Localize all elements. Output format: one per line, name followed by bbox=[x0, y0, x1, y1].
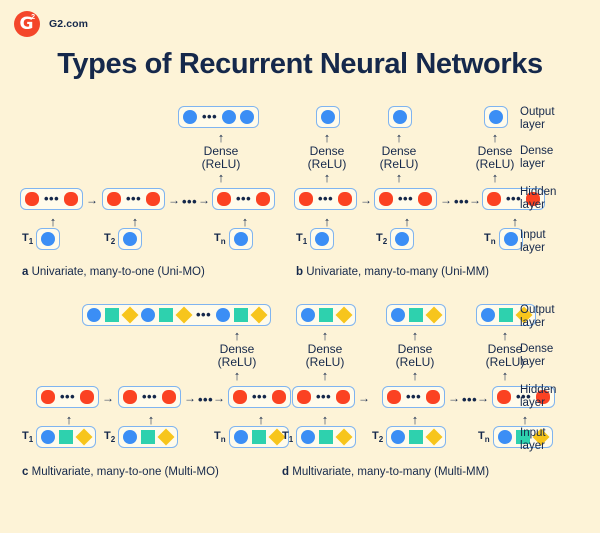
red-circle-node bbox=[387, 390, 401, 404]
ellipsis-dots: ••• bbox=[235, 195, 252, 203]
timestep-label-t2: T2 bbox=[104, 430, 115, 444]
teal-square-node bbox=[409, 308, 423, 322]
red-circle-node bbox=[146, 192, 160, 206]
arrow-right-icon: → bbox=[198, 194, 210, 206]
teal-square-node bbox=[409, 430, 423, 444]
yellow-diamond-node bbox=[336, 307, 353, 324]
arrow-right-icon: → bbox=[448, 392, 460, 404]
arrow-right-icon: → bbox=[86, 194, 98, 206]
dense-line-1: Dense bbox=[308, 342, 343, 356]
blue-circle-node bbox=[141, 308, 155, 322]
row-label-dense-layer: Dense layer bbox=[520, 145, 553, 170]
panel-d-input-t1: T1 bbox=[282, 426, 356, 448]
blue-circle-node bbox=[321, 110, 335, 124]
yellow-diamond-node bbox=[251, 307, 268, 324]
brand-name: G2.com bbox=[49, 18, 88, 30]
row-label-line2: layer bbox=[520, 397, 556, 410]
blue-circle-node bbox=[222, 110, 236, 124]
row-label-line1: Input bbox=[520, 427, 546, 440]
red-circle-node bbox=[41, 390, 55, 404]
timestep-label-t1: T1 bbox=[282, 430, 293, 444]
panel-b-output-box-t2 bbox=[388, 106, 412, 128]
red-circle-node bbox=[336, 390, 350, 404]
arrow-up-icon: ↑ bbox=[62, 414, 76, 425]
row-label-line2: layer bbox=[520, 242, 546, 255]
panel-c-input-box-tn bbox=[229, 426, 289, 448]
dense-line-2: (ReLU) bbox=[218, 355, 257, 369]
arrow-right-icon: → bbox=[477, 392, 489, 404]
arrow-up-icon: ↑ bbox=[144, 414, 158, 425]
panel-b-hidden-box-t1: ••• bbox=[294, 188, 357, 210]
blue-circle-node bbox=[391, 308, 405, 322]
arrow-right-icon: → bbox=[440, 194, 452, 206]
red-circle-node bbox=[64, 192, 78, 206]
panel-c-input-tn: Tn bbox=[214, 426, 289, 448]
yellow-diamond-node bbox=[176, 307, 193, 324]
row-label-line2: layer bbox=[520, 440, 546, 453]
red-circle-node bbox=[107, 192, 121, 206]
row-label-output-layer: Output layer bbox=[520, 106, 555, 131]
arrow-up-icon: ↑ bbox=[518, 414, 532, 425]
yellow-diamond-node bbox=[426, 307, 443, 324]
ellipsis-dots: ••• bbox=[461, 396, 478, 404]
red-circle-node bbox=[418, 192, 432, 206]
timestep-label-tn: Tn bbox=[484, 232, 496, 246]
red-circle-node bbox=[217, 192, 231, 206]
panel-c-input-box-t1 bbox=[36, 426, 96, 448]
brand-logo-group: G 2 G2.com bbox=[14, 11, 88, 37]
panel-d-dense-label-t2: Dense (ReLU) bbox=[385, 343, 445, 369]
arrow-up-icon: ↑ bbox=[214, 172, 228, 183]
ellipsis-dots: ••• bbox=[405, 393, 422, 401]
row-label-line2: layer bbox=[520, 356, 553, 369]
ellipsis-dots: ••• bbox=[125, 195, 142, 203]
panel-a-input-t1: T1 bbox=[22, 228, 60, 250]
arrow-up-icon: ↑ bbox=[392, 132, 406, 143]
yellow-diamond-node bbox=[336, 429, 353, 446]
teal-square-node bbox=[252, 430, 266, 444]
row-label-line2: layer bbox=[520, 158, 553, 171]
panel-c-dense-label: Dense (ReLU) bbox=[207, 343, 267, 369]
dense-line-2: (ReLU) bbox=[306, 355, 345, 369]
panel-b-caption-text: Univariate, many-to-many (Uni-MM) bbox=[306, 266, 489, 278]
row-label-output-layer: Output layer bbox=[520, 304, 555, 329]
arrow-up-icon: ↑ bbox=[408, 330, 422, 341]
panel-a-input-box-t1 bbox=[36, 228, 60, 250]
g2-logo-icon: G 2 bbox=[14, 11, 40, 37]
dense-line-1: Dense bbox=[398, 342, 433, 356]
arrow-up-icon: ↑ bbox=[318, 414, 332, 425]
blue-circle-node bbox=[234, 430, 248, 444]
panel-b-input-tn: Tn bbox=[484, 228, 523, 250]
panel-c-hidden-box-tn: ••• bbox=[228, 386, 291, 408]
red-circle-node bbox=[256, 192, 270, 206]
arrow-up-icon: ↑ bbox=[408, 370, 422, 381]
row-label-input-layer: Input layer bbox=[520, 427, 546, 452]
red-circle-node bbox=[272, 390, 286, 404]
arrow-up-icon: ↑ bbox=[320, 172, 334, 183]
blue-circle-node bbox=[41, 430, 55, 444]
panel-c-hidden-box-t1: ••• bbox=[36, 386, 99, 408]
blue-circle-node bbox=[234, 232, 248, 246]
row-label-line2: layer bbox=[520, 317, 555, 330]
dense-line-1: Dense bbox=[310, 144, 345, 158]
teal-square-node bbox=[319, 430, 333, 444]
panel-b-dense-label-tn: Dense (ReLU) bbox=[465, 145, 525, 171]
panel-d-caption-text: Multivariate, many-to-many (Multi-MM) bbox=[292, 466, 489, 478]
blue-circle-node bbox=[87, 308, 101, 322]
dense-line-2: (ReLU) bbox=[202, 157, 241, 171]
arrow-up-icon: ↑ bbox=[488, 172, 502, 183]
arrow-up-icon: ↑ bbox=[254, 414, 268, 425]
teal-square-node bbox=[105, 308, 119, 322]
dense-line-1: Dense bbox=[204, 144, 239, 158]
arrow-up-icon: ↑ bbox=[488, 132, 502, 143]
panel-a-hidden-box-t1: ••• bbox=[20, 188, 83, 210]
red-circle-node bbox=[297, 390, 311, 404]
dense-line-1: Dense bbox=[478, 144, 513, 158]
page-title: Types of Recurrent Neural Networks bbox=[0, 48, 600, 81]
timestep-label-t1: T1 bbox=[296, 232, 307, 246]
teal-square-node bbox=[499, 308, 513, 322]
panel-b-output-box-t1 bbox=[316, 106, 340, 128]
arrow-up-icon: ↑ bbox=[320, 132, 334, 143]
ellipsis-dots: ••• bbox=[197, 396, 214, 404]
dense-line-1: Dense bbox=[382, 144, 417, 158]
panel-d-output-box-t1 bbox=[296, 304, 356, 326]
panel-c-input-t2: T2 bbox=[104, 426, 178, 448]
teal-square-node bbox=[159, 308, 173, 322]
arrow-up-icon: ↑ bbox=[498, 330, 512, 341]
dense-line-1: Dense bbox=[220, 342, 255, 356]
panel-b-letter: b bbox=[296, 266, 303, 278]
panel-c-output-box: ••• bbox=[82, 304, 271, 326]
timestep-label-t2: T2 bbox=[104, 232, 115, 246]
row-label-line1: Hidden bbox=[520, 384, 556, 397]
red-circle-node bbox=[80, 390, 94, 404]
red-circle-node bbox=[487, 192, 501, 206]
panel-b-caption: b Univariate, many-to-many (Uni-MM) bbox=[296, 266, 489, 278]
panel-c-caption: c Multivariate, many-to-one (Multi-MO) bbox=[22, 466, 219, 478]
panel-a-input-box-tn bbox=[229, 228, 253, 250]
arrow-right-icon: → bbox=[358, 392, 370, 404]
ellipsis-dots: ••• bbox=[201, 113, 218, 121]
panel-b-input-box-t2 bbox=[390, 228, 414, 250]
yellow-diamond-node bbox=[122, 307, 139, 324]
red-circle-node bbox=[497, 390, 511, 404]
blue-circle-node bbox=[504, 232, 518, 246]
red-circle-node bbox=[25, 192, 39, 206]
arrow-up-icon: ↑ bbox=[508, 216, 522, 227]
panel-b-input-t2: T2 bbox=[376, 228, 414, 250]
arrow-up-icon: ↑ bbox=[408, 414, 422, 425]
panel-b-output-box-tn bbox=[484, 106, 508, 128]
timestep-label-tn: Tn bbox=[214, 232, 226, 246]
row-label-line1: Dense bbox=[520, 145, 553, 158]
panel-a-hidden-box-tn: ••• bbox=[212, 188, 275, 210]
panel-d-input-box-t2 bbox=[386, 426, 446, 448]
timestep-label-t1: T1 bbox=[22, 430, 33, 444]
panel-d-hidden-box-t1: ••• bbox=[292, 386, 355, 408]
arrow-up-icon: ↑ bbox=[392, 172, 406, 183]
row-label-line2: layer bbox=[520, 199, 556, 212]
arrow-up-icon: ↑ bbox=[400, 216, 414, 227]
ellipsis-dots: ••• bbox=[251, 393, 268, 401]
arrow-up-icon: ↑ bbox=[128, 216, 142, 227]
teal-square-node bbox=[319, 308, 333, 322]
arrow-up-icon: ↑ bbox=[318, 370, 332, 381]
panel-b-input-box-t1 bbox=[310, 228, 334, 250]
ellipsis-dots: ••• bbox=[315, 393, 332, 401]
arrow-right-icon: → bbox=[360, 194, 372, 206]
blue-circle-node bbox=[216, 308, 230, 322]
row-label-dense-layer: Dense layer bbox=[520, 343, 553, 368]
panel-d-dense-label-t1: Dense (ReLU) bbox=[295, 343, 355, 369]
timestep-label-t2: T2 bbox=[372, 430, 383, 444]
panel-d-output-box-t2 bbox=[386, 304, 446, 326]
red-circle-node bbox=[299, 192, 313, 206]
blue-circle-node bbox=[301, 430, 315, 444]
blue-circle-node bbox=[481, 308, 495, 322]
ellipsis-dots: ••• bbox=[453, 198, 470, 206]
panel-a-input-t2: T2 bbox=[104, 228, 142, 250]
yellow-diamond-node bbox=[426, 429, 443, 446]
panel-c-caption-text: Multivariate, many-to-one (Multi-MO) bbox=[32, 466, 219, 478]
panel-c-letter: c bbox=[22, 466, 28, 478]
panel-c-input-t1: T1 bbox=[22, 426, 96, 448]
dense-line-2: (ReLU) bbox=[476, 157, 515, 171]
blue-circle-node bbox=[489, 110, 503, 124]
blue-circle-node bbox=[393, 110, 407, 124]
row-label-hidden-layer: Hidden layer bbox=[520, 186, 556, 211]
row-label-line1: Hidden bbox=[520, 186, 556, 199]
row-label-line1: Input bbox=[520, 229, 546, 242]
blue-circle-node bbox=[123, 232, 137, 246]
dense-line-2: (ReLU) bbox=[396, 355, 435, 369]
row-label-line1: Output bbox=[520, 304, 555, 317]
panel-b-dense-label-t1: Dense (ReLU) bbox=[297, 145, 357, 171]
teal-square-node bbox=[141, 430, 155, 444]
arrow-up-icon: ↑ bbox=[320, 216, 334, 227]
red-circle-node bbox=[426, 390, 440, 404]
arrow-up-icon: ↑ bbox=[46, 216, 60, 227]
row-label-input-layer: Input layer bbox=[520, 229, 546, 254]
blue-circle-node bbox=[498, 430, 512, 444]
panel-a-letter: a bbox=[22, 266, 28, 278]
blue-circle-node bbox=[395, 232, 409, 246]
arrow-up-icon: ↑ bbox=[230, 370, 244, 381]
blue-circle-node bbox=[315, 232, 329, 246]
panel-d-input-box-t1 bbox=[296, 426, 356, 448]
row-label-line1: Dense bbox=[520, 343, 553, 356]
arrow-up-icon: ↑ bbox=[238, 216, 252, 227]
arrow-right-icon: → bbox=[102, 392, 114, 404]
panel-a-hidden-box-t2: ••• bbox=[102, 188, 165, 210]
panel-c-hidden-box-t2: ••• bbox=[118, 386, 181, 408]
panel-b-dense-label-t2: Dense (ReLU) bbox=[369, 145, 429, 171]
row-label-line2: layer bbox=[520, 119, 555, 132]
panel-c-input-box-t2 bbox=[118, 426, 178, 448]
blue-circle-node bbox=[183, 110, 197, 124]
arrow-right-icon: → bbox=[168, 194, 180, 206]
panel-a-input-box-t2 bbox=[118, 228, 142, 250]
teal-square-node bbox=[234, 308, 248, 322]
blue-circle-node bbox=[301, 308, 315, 322]
timestep-label-tn: Tn bbox=[478, 430, 490, 444]
dense-line-1: Dense bbox=[488, 342, 523, 356]
teal-square-node bbox=[59, 430, 73, 444]
arrow-right-icon: → bbox=[184, 392, 196, 404]
arrow-up-icon: ↑ bbox=[214, 132, 228, 143]
panel-b-input-t1: T1 bbox=[296, 228, 334, 250]
panel-d-caption: d Multivariate, many-to-many (Multi-MM) bbox=[282, 466, 489, 478]
timestep-label-t2: T2 bbox=[376, 232, 387, 246]
yellow-diamond-node bbox=[76, 429, 93, 446]
row-label-line1: Output bbox=[520, 106, 555, 119]
panel-d-hidden-box-t2: ••• bbox=[382, 386, 445, 408]
panel-b-hidden-box-t2: ••• bbox=[374, 188, 437, 210]
ellipsis-dots: ••• bbox=[141, 393, 158, 401]
panel-a-output-box: ••• bbox=[178, 106, 259, 128]
g2-logo-superscript: 2 bbox=[31, 14, 35, 21]
panel-d-input-t2: T2 bbox=[372, 426, 446, 448]
panel-a-input-tn: Tn bbox=[214, 228, 253, 250]
red-circle-node bbox=[233, 390, 247, 404]
ellipsis-dots: ••• bbox=[181, 198, 198, 206]
panel-a-caption: a Univariate, many-to-one (Uni-MO) bbox=[22, 266, 205, 278]
arrow-right-icon: → bbox=[469, 194, 481, 206]
ellipsis-dots: ••• bbox=[317, 195, 334, 203]
panel-a-caption-text: Univariate, many-to-one (Uni-MO) bbox=[32, 266, 205, 278]
blue-circle-node bbox=[41, 232, 55, 246]
blue-circle-node bbox=[240, 110, 254, 124]
row-label-hidden-layer: Hidden layer bbox=[520, 384, 556, 409]
ellipsis-dots: ••• bbox=[397, 195, 414, 203]
dense-line-2: (ReLU) bbox=[486, 355, 525, 369]
ellipsis-dots: ••• bbox=[195, 311, 212, 319]
panel-d-letter: d bbox=[282, 466, 289, 478]
arrow-up-icon: ↑ bbox=[498, 370, 512, 381]
ellipsis-dots: ••• bbox=[59, 393, 76, 401]
red-circle-node bbox=[123, 390, 137, 404]
dense-line-2: (ReLU) bbox=[308, 157, 347, 171]
blue-circle-node bbox=[123, 430, 137, 444]
timestep-label-tn: Tn bbox=[214, 430, 226, 444]
arrow-up-icon: ↑ bbox=[230, 330, 244, 341]
red-circle-node bbox=[379, 192, 393, 206]
blue-circle-node bbox=[391, 430, 405, 444]
red-circle-node bbox=[338, 192, 352, 206]
dense-line-2: (ReLU) bbox=[380, 157, 419, 171]
red-circle-node bbox=[162, 390, 176, 404]
arrow-right-icon: → bbox=[213, 392, 225, 404]
ellipsis-dots: ••• bbox=[43, 195, 60, 203]
yellow-diamond-node bbox=[158, 429, 175, 446]
timestep-label-t1: T1 bbox=[22, 232, 33, 246]
panel-a-dense-label: Dense (ReLU) bbox=[191, 145, 251, 171]
arrow-up-icon: ↑ bbox=[318, 330, 332, 341]
diagram-board: ••• ↑ Dense (ReLU) ↑ ••• → ••• → ••• → •… bbox=[0, 96, 600, 506]
